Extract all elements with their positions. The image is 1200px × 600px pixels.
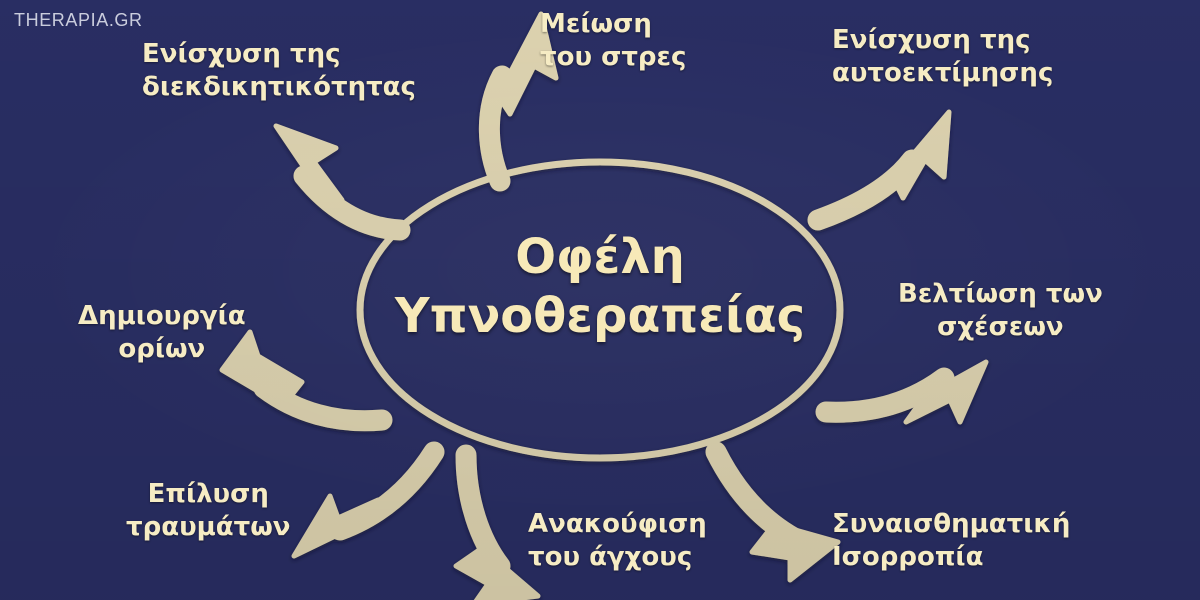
site-watermark: THERAPIA.GR bbox=[14, 10, 143, 31]
node-label-anakoufisi-agxous: Ανακούφιση του άγχους bbox=[528, 508, 707, 575]
center-title: Οφέλη Υπνοθεραπείας bbox=[330, 228, 870, 345]
arrow-to-veltiosi-sxeseon bbox=[826, 362, 986, 422]
arrow-to-autoektimisi bbox=[818, 112, 949, 220]
node-label-autoektimisi: Ενίσχυση της αυτοεκτίμησης bbox=[832, 24, 1053, 91]
diagram-canvas: THERAPIA.GR Οφέλη Υπνοθεραπείας Μείωση τ… bbox=[0, 0, 1200, 600]
node-label-dimiourgia-orion: Δημιουργία ορίων bbox=[78, 300, 246, 367]
arrow-to-anakoufisi-agxous bbox=[456, 455, 538, 600]
node-label-epilysi-travmaton: Επίλυση τραυμάτων bbox=[126, 478, 291, 545]
node-label-meiosi-stres: Μείωση του στρες bbox=[540, 8, 686, 75]
arrow-to-dimiourgia-orion bbox=[222, 332, 382, 421]
node-label-synaisthimatiki: Συναισθηματική Ισορροπία bbox=[832, 508, 1070, 575]
arrow-to-diekdikitikotita bbox=[276, 126, 400, 230]
arrow-to-epilysi-travmaton bbox=[294, 452, 434, 556]
node-label-diekdikitikotita: Ενίσχυση της διεκδικητικότητας bbox=[142, 38, 416, 105]
arrow-to-synaisthimatiki bbox=[716, 452, 838, 580]
node-label-veltiosi-sxeseon: Βελτίωση των σχέσεων bbox=[898, 278, 1103, 345]
